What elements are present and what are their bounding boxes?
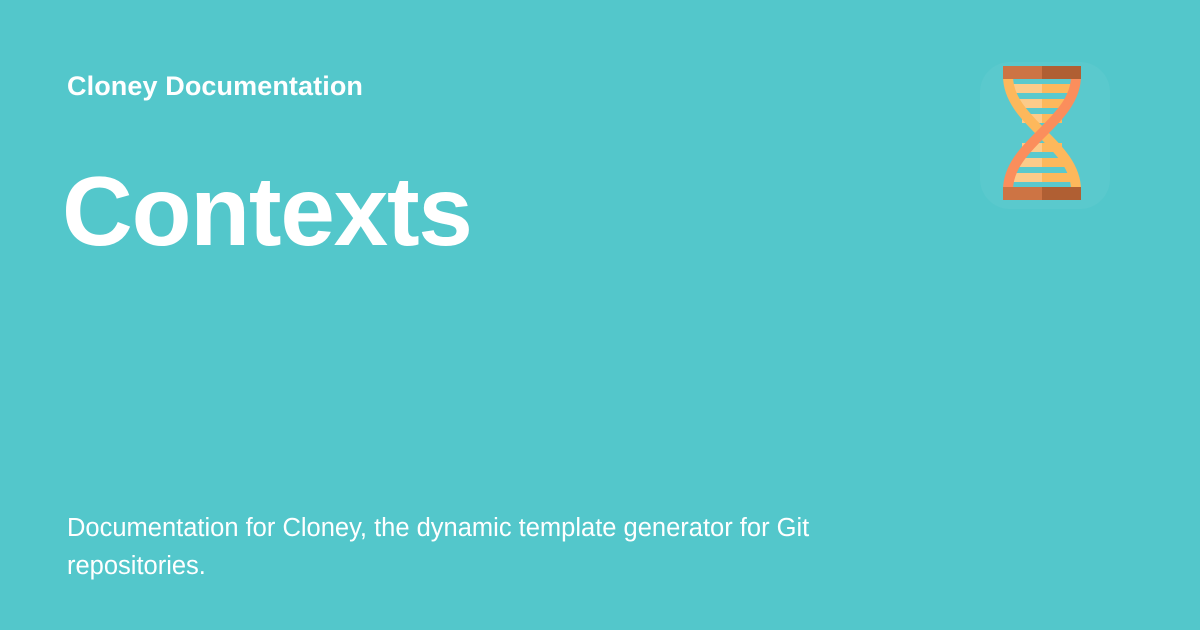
logo [980, 62, 1110, 209]
text-column: Cloney Documentation Contexts Documentat… [67, 0, 967, 630]
page-title: Contexts [62, 160, 472, 263]
page-description: Documentation for Cloney, the dynamic te… [67, 510, 907, 585]
dna-helix-icon [997, 62, 1087, 204]
og-card: Cloney Documentation Contexts Documentat… [0, 0, 1200, 630]
site-title: Cloney Documentation [67, 70, 363, 102]
